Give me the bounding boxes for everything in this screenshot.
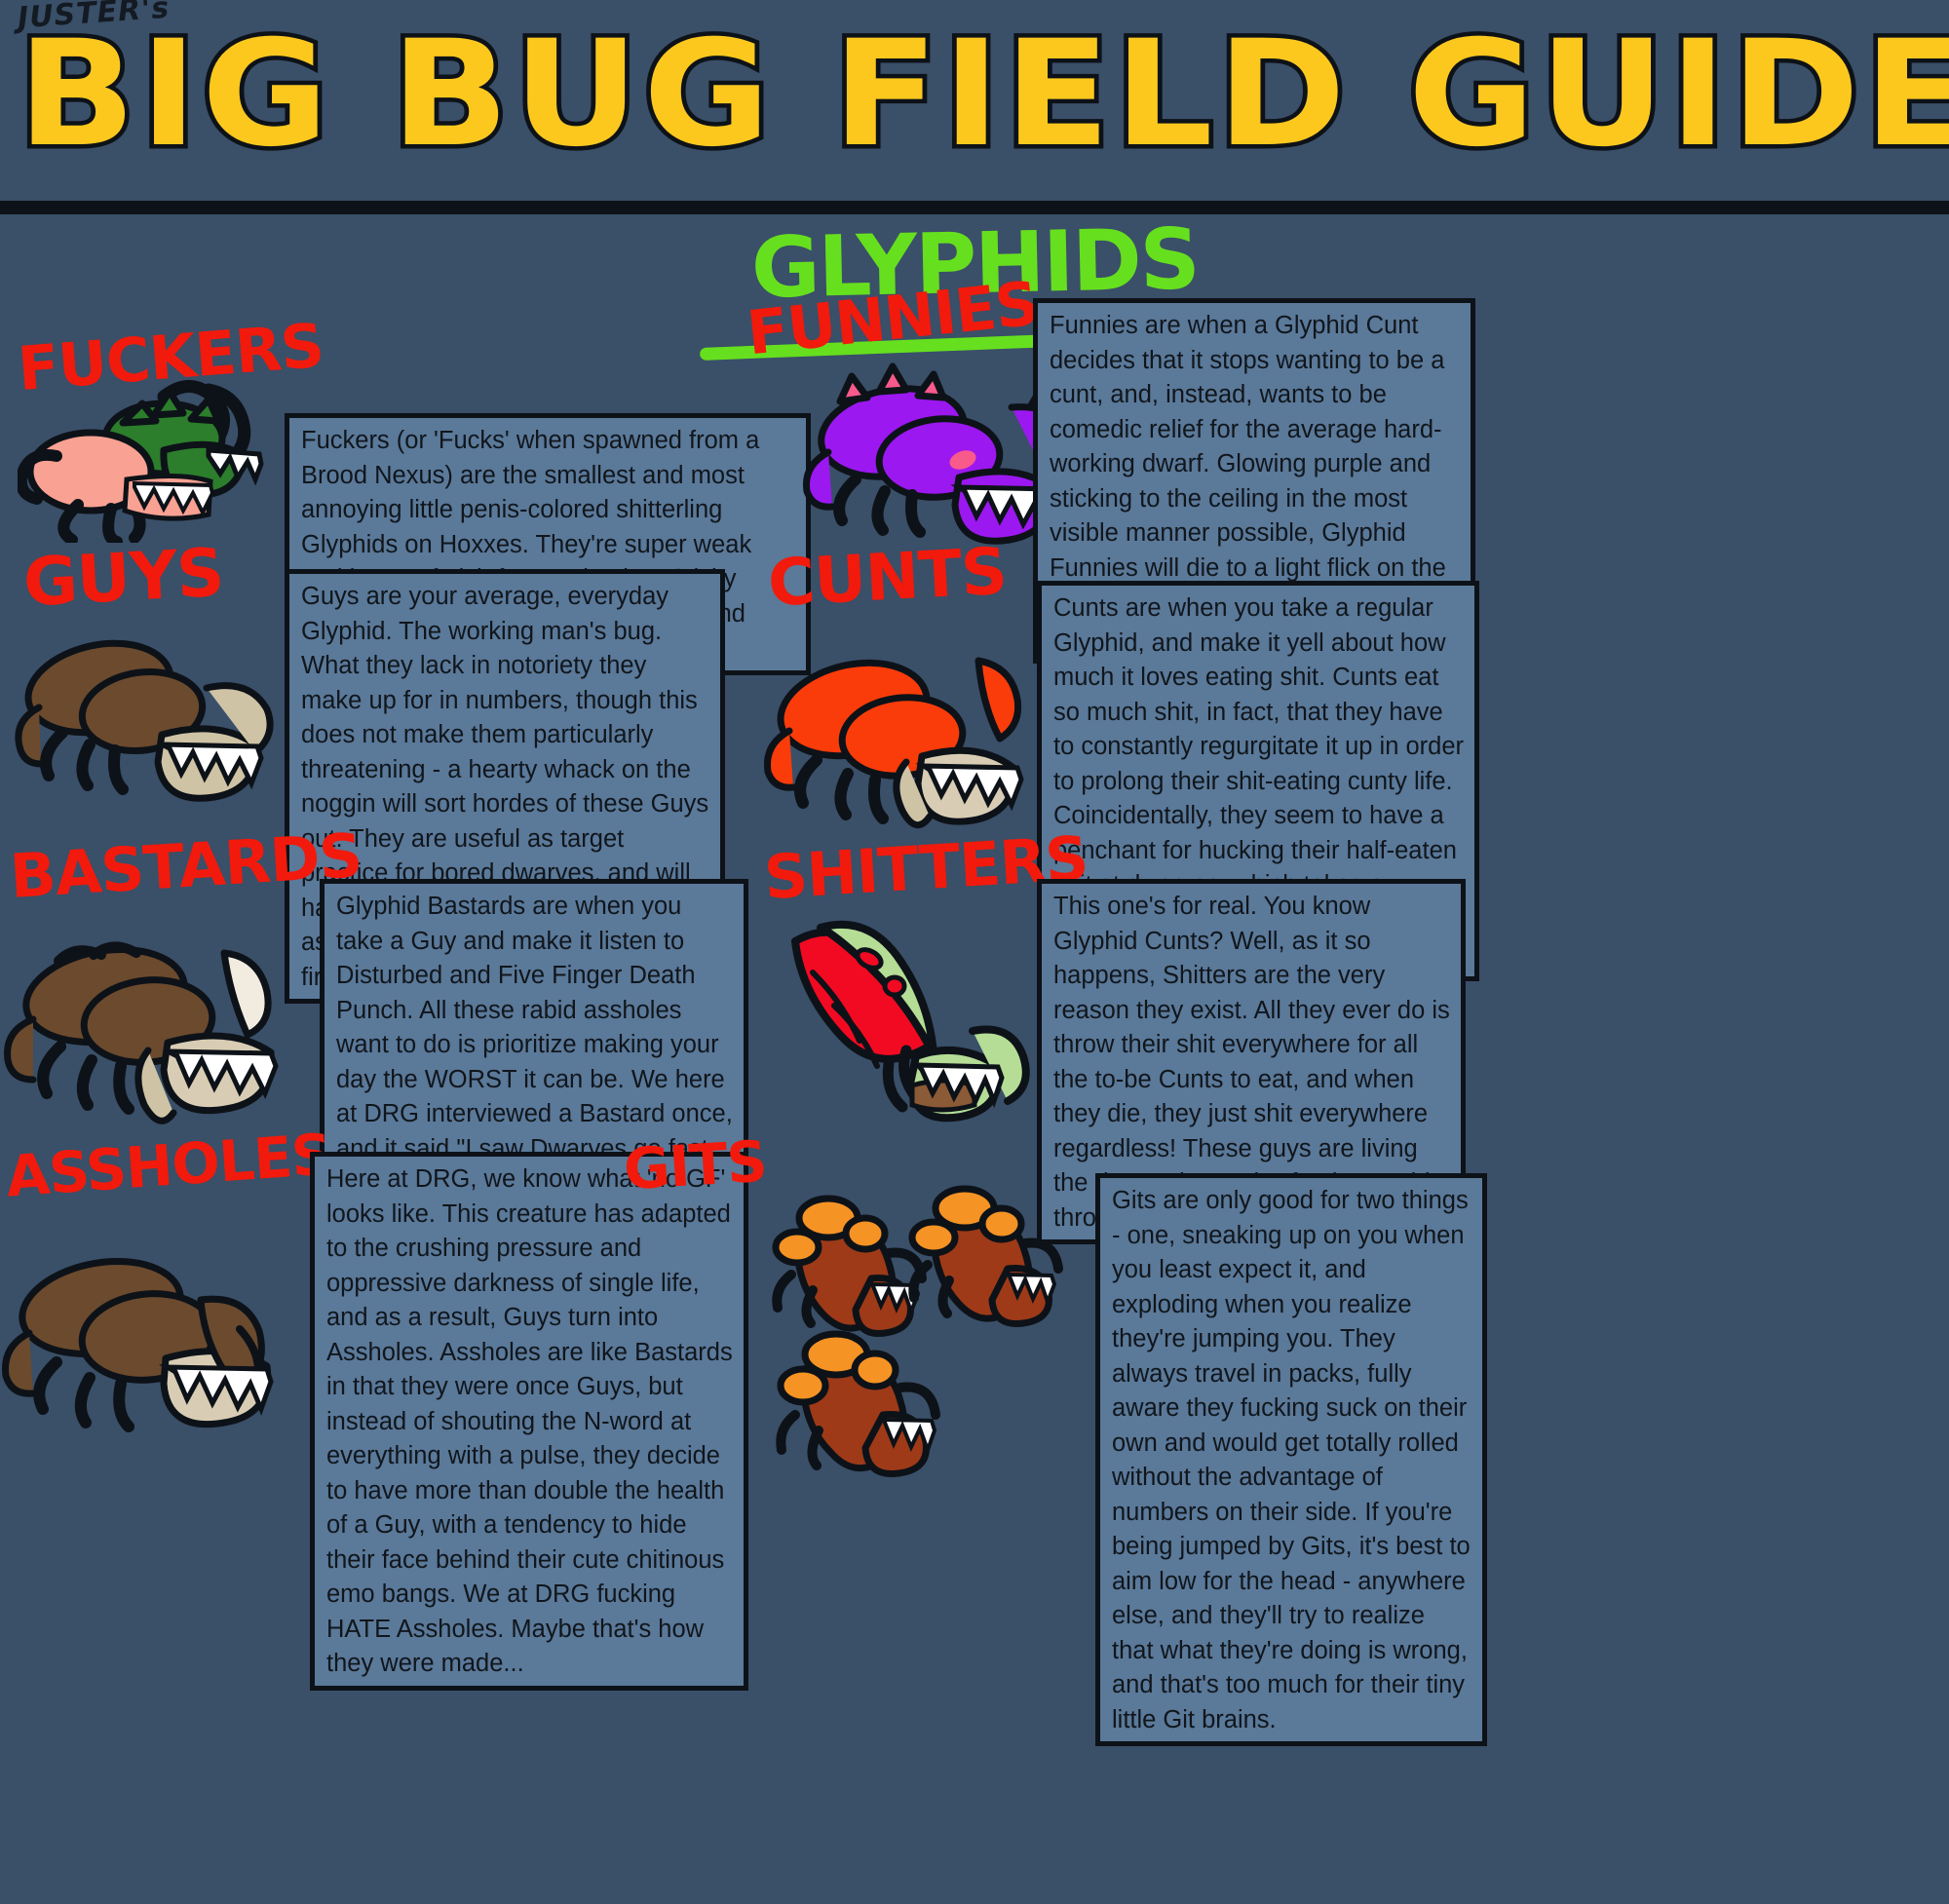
- entry-description-assholes: Here at DRG, we know what 'no GF' looks …: [310, 1152, 748, 1691]
- glyphid-guy-icon: [6, 618, 288, 813]
- entry-description-gits: Gits are only good for two things - one,…: [1095, 1173, 1487, 1746]
- entry-label-guys: GUYS: [21, 535, 225, 623]
- entries-grid: FUCKERS: [0, 362, 1949, 1904]
- right-column: FUNNIES: [974, 362, 1949, 1904]
- page-title: BIG BUG FIELD GUIDE: [18, 21, 1949, 168]
- entry-label-cunts: CUNTS: [766, 534, 1009, 622]
- glyphid-cunt-icon: [760, 637, 1052, 847]
- glyphid-fucker-icon: [18, 362, 281, 543]
- entry-body-gits: Gits are only good for two things - one,…: [1112, 1184, 1472, 1737]
- header-divider: [0, 201, 1949, 214]
- entry-label-gits: GITS: [622, 1128, 768, 1203]
- glyphid-git-icon: [770, 1181, 1091, 1483]
- entry-body-assholes: Here at DRG, we know what 'no GF' looks …: [326, 1162, 734, 1682]
- glyphid-asshole-icon: [0, 1232, 312, 1456]
- header-banner: JUSTER's BIG BUG FIELD GUIDE: [0, 0, 1949, 207]
- glyphid-bastard-icon: [0, 918, 312, 1137]
- glyphid-shitter-icon: [770, 908, 1062, 1142]
